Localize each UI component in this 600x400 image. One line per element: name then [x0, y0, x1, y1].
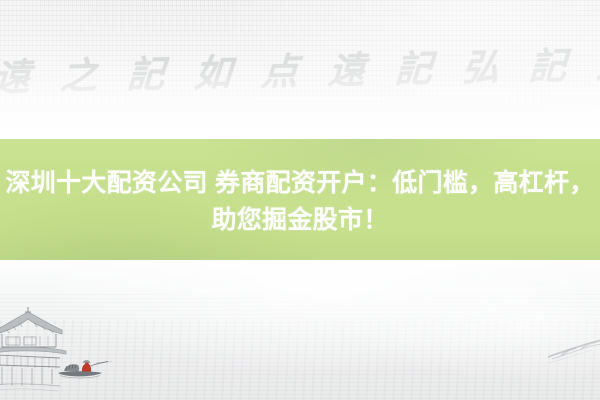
- article-banner-image: 遠 之 記 如 点 遠 記 弘 記 之 之 千 記 点 年 記 遠 書 点 如 …: [0, 0, 600, 400]
- calligraphy-vignette-overlay: [0, 0, 600, 139]
- ink-wash-landscape: [0, 260, 600, 400]
- headline-band: 深圳十大配资公司 券商配资开户：低门槛，高杠杆，助您掘金股市！: [0, 139, 600, 260]
- banner-headline: 深圳十大配资公司 券商配资开户：低门槛，高杠杆，助您掘金股市！: [0, 139, 600, 260]
- headline-line-1: 深圳十大配资公司 券商配资开户：低门槛，高杠杆: [5, 169, 569, 197]
- mist-haze-overlay: [0, 260, 600, 400]
- calligraphy-texture-header: 遠 之 記 如 点 遠 記 弘 記 之 之 千 記 点 年 記 遠 書 点 如 …: [0, 0, 600, 139]
